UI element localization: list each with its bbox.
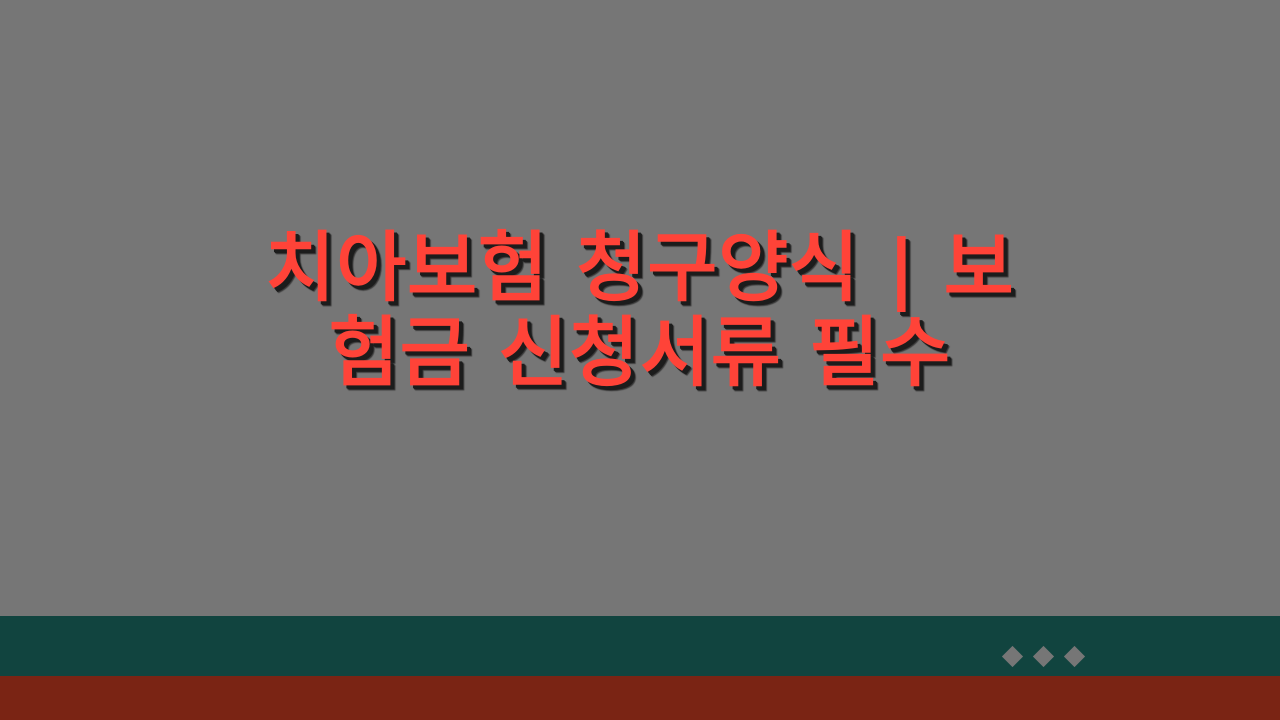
teal-band-notch: [0, 590, 1060, 616]
diamond-icon: [1064, 646, 1085, 667]
diamond-icon: [1033, 646, 1054, 667]
diamond-icon: [1002, 646, 1023, 667]
headline-container: 치아보험 청구양식 | 보험금 신청서류 필수: [0, 0, 1280, 620]
teal-band: [0, 616, 1280, 676]
page-title: 치아보험 청구양식 | 보험금 신청서류 필수: [260, 225, 1020, 395]
diamond-decoration-group: [1005, 649, 1082, 664]
poster-canvas: 치아보험 청구양식 | 보험금 신청서류 필수: [0, 0, 1280, 720]
maroon-band: [0, 676, 1280, 720]
